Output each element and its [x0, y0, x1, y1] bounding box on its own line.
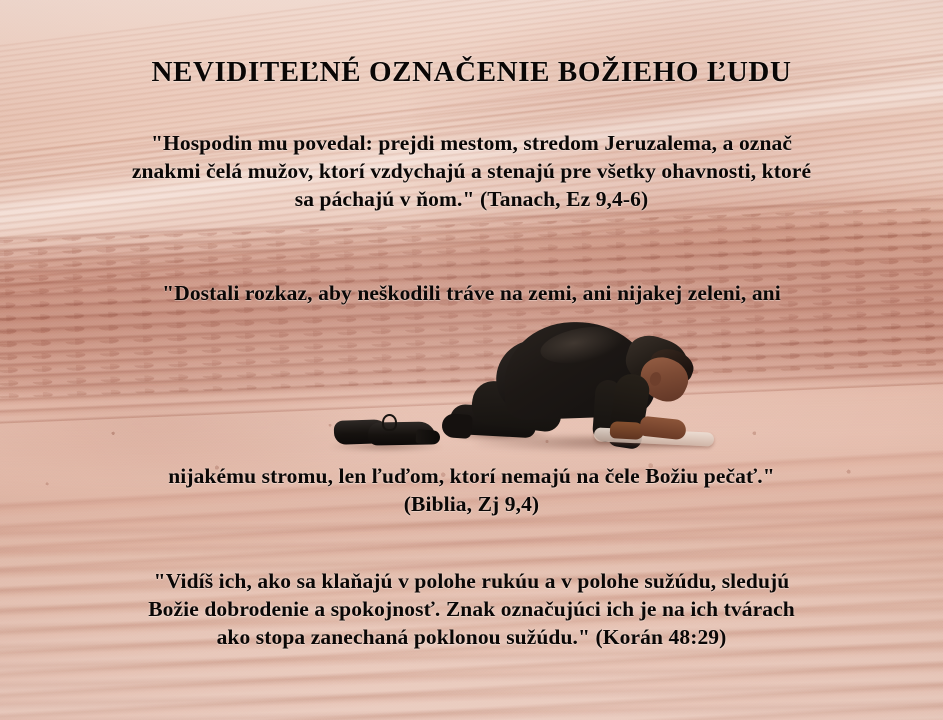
- quote-koran-line-1: "Vidíš ich, ako sa klaňajú v polohe rukú…: [0, 568, 943, 596]
- text-overlay: NEVIDITEĽNÉ OZNAČENIE BOŽIEHO ĽUDU "Hosp…: [0, 0, 943, 720]
- quote-biblia-source: (Biblia, Zj 9,4): [0, 491, 943, 519]
- quote-biblia-line-2: nijakému stromu, len ľuďom, ktorí nemajú…: [0, 463, 943, 491]
- quote-biblia-line-1: "Dostali rozkaz, aby neškodili tráve na …: [0, 280, 943, 308]
- quote-biblia-part-1: "Dostali rozkaz, aby neškodili tráve na …: [0, 280, 943, 308]
- quote-koran: "Vidíš ich, ako sa klaňajú v polohe rukú…: [0, 568, 943, 652]
- quote-tanach: "Hospodin mu povedal: prejdi mestom, str…: [0, 130, 943, 214]
- quote-biblia-part-2: nijakému stromu, len ľuďom, ktorí nemajú…: [0, 463, 943, 519]
- quote-koran-line-3: ako stopa zanechaná poklonou sužúdu." (K…: [0, 624, 943, 652]
- quote-koran-line-2: Božie dobrodenie a spokojnosť. Znak ozna…: [0, 596, 943, 624]
- quote-tanach-line-2: znakmi čelá mužov, ktorí vzdychajú a ste…: [0, 158, 943, 186]
- poster: NEVIDITEĽNÉ OZNAČENIE BOŽIEHO ĽUDU "Hosp…: [0, 0, 943, 720]
- quote-tanach-line-1: "Hospodin mu povedal: prejdi mestom, str…: [0, 130, 943, 158]
- poster-title: NEVIDITEĽNÉ OZNAČENIE BOŽIEHO ĽUDU: [0, 56, 943, 89]
- quote-tanach-line-3: sa páchajú v ňom." (Tanach, Ez 9,4-6): [0, 186, 943, 214]
